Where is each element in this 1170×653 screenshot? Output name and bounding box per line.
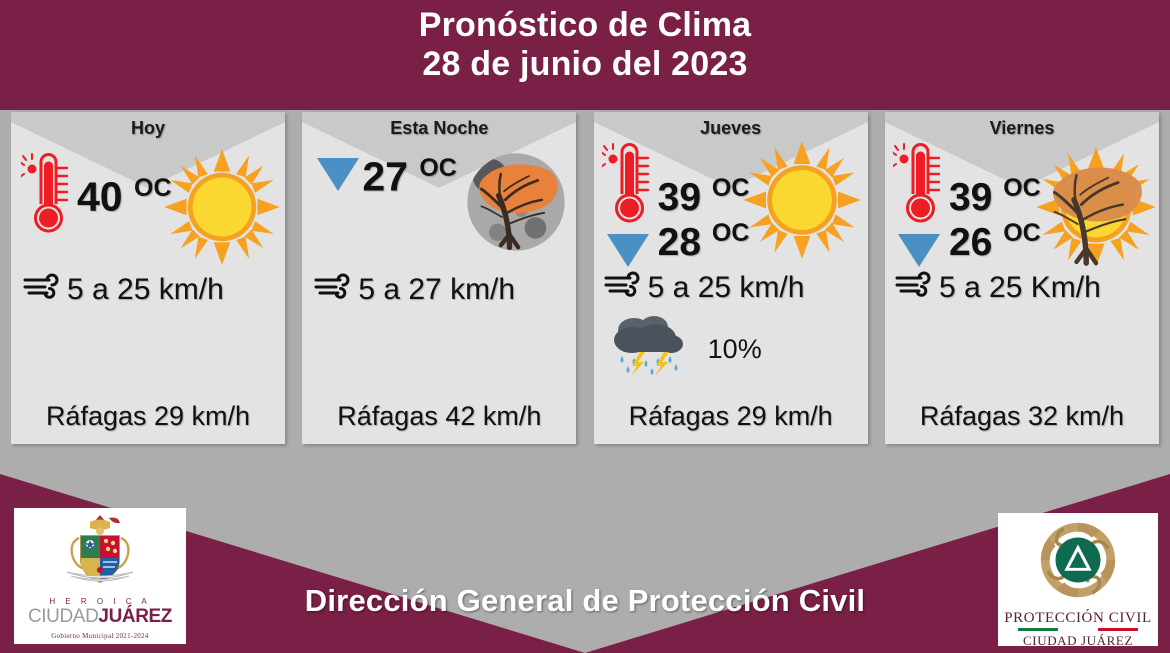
forecast-card-viernes[interactable]: Viernes [885, 112, 1159, 444]
forecast-cards-row: Hoy [0, 112, 1170, 448]
gusts-value: Ráfagas 29 km/h [594, 401, 868, 432]
card-day-label: Hoy [11, 118, 285, 139]
low-temp-triangle-icon [898, 234, 940, 267]
title-line-1: Pronóstico de Clima [0, 6, 1170, 45]
logo-caption: Gobierno Municipal 2021-2024 [51, 632, 148, 640]
flag-red [1098, 628, 1138, 631]
thermometer-icon [21, 146, 73, 246]
low-temperature: 27 OC [362, 156, 457, 197]
coat-of-arms-icon [57, 512, 143, 595]
flag-white [1058, 628, 1098, 631]
storm-cloud-icon [608, 314, 694, 385]
flag-green [1018, 628, 1058, 631]
logo-heroica-text: H E R O I C A [49, 597, 150, 606]
temperature-block: 40 OC [19, 146, 172, 246]
wind-icon [604, 270, 644, 306]
header-banner: Pronóstico de Clima 28 de junio del 2023 [0, 0, 1170, 110]
logo-city-text: CIUDADJUÁREZ [28, 607, 172, 626]
temperature-block: 39 OC 28 OC [600, 136, 750, 267]
moon-tree-icon [462, 148, 570, 261]
proteccion-civil-emblem-icon [1029, 516, 1127, 609]
wind-value: 5 a 27 km/h [358, 273, 515, 307]
sun-icon [742, 140, 862, 265]
sun-tree-icon [1035, 146, 1157, 273]
heroica-ciudad-juarez-logo: H E R O I C A CIUDADJUÁREZ Gobierno Muni… [14, 508, 186, 644]
wind-row: 5 a 25 km/h [604, 270, 805, 306]
temperature-block: 39 OC 26 OC [891, 136, 1041, 267]
forecast-card-esta-noche[interactable]: Esta Noche [302, 112, 576, 444]
low-temp-triangle-icon [317, 158, 359, 191]
wind-row: 5 a 25 km/h [23, 272, 224, 308]
weather-forecast-poster: Pronóstico de Clima 28 de junio del 2023… [0, 0, 1170, 653]
forecast-card-jueves[interactable]: Jueves [594, 112, 868, 444]
proteccion-civil-city: CIUDAD JUÁREZ [1023, 633, 1133, 646]
low-temperature: 28 OC [658, 221, 750, 262]
wind-icon [23, 272, 63, 308]
proteccion-civil-logo: PROTECCIÓN CIVIL CIUDAD JUÁREZ [998, 513, 1158, 646]
title-line-2: 28 de junio del 2023 [0, 45, 1170, 84]
card-day-label: Esta Noche [302, 118, 576, 139]
wind-row: 5 a 25 Km/h [895, 270, 1101, 306]
thermometer-icon [602, 136, 654, 236]
wind-value: 5 a 25 Km/h [939, 271, 1101, 305]
logo-city-light: CIUDAD [28, 606, 98, 627]
high-temperature: 39 OC [658, 176, 750, 217]
gusts-value: Ráfagas 42 km/h [302, 401, 576, 432]
temperature-block: 27 OC [310, 158, 457, 197]
page-title: Pronóstico de Clima 28 de junio del 2023 [0, 6, 1170, 85]
low-temperature: 26 OC [949, 221, 1041, 262]
low-temp-triangle-icon [607, 234, 649, 267]
rain-row: 10% [608, 314, 762, 385]
wind-icon [314, 272, 354, 308]
rain-chance-value: 10% [708, 334, 762, 365]
gusts-value: Ráfagas 32 km/h [885, 401, 1159, 432]
high-temperature: 40 OC [77, 176, 172, 217]
thermometer-icon [893, 136, 945, 236]
forecast-card-hoy[interactable]: Hoy [11, 112, 285, 444]
wind-value: 5 a 25 km/h [648, 271, 805, 305]
proteccion-civil-title: PROTECCIÓN CIVIL [1004, 610, 1152, 627]
wind-icon [895, 270, 935, 306]
high-temperature: 39 OC [949, 176, 1041, 217]
wind-value: 5 a 25 km/h [67, 273, 224, 307]
mexico-flag-bar [1018, 628, 1138, 631]
gusts-value: Ráfagas 29 km/h [11, 401, 285, 432]
logo-city-bold: JUÁREZ [98, 606, 172, 627]
wind-row: 5 a 27 km/h [314, 272, 515, 308]
sun-icon [163, 148, 281, 271]
